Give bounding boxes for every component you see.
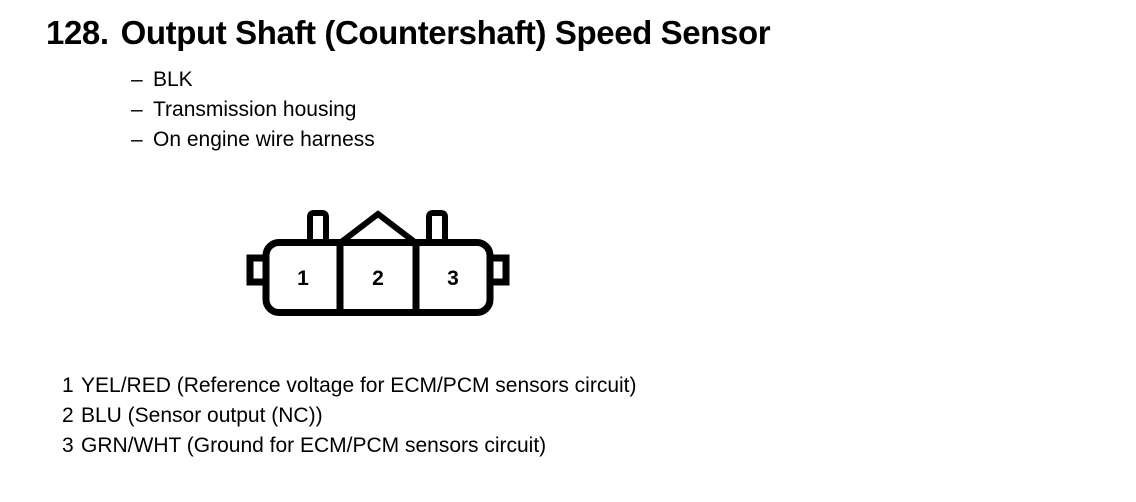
spec-list: – BLK – Transmission housing – On engine…: [131, 65, 375, 155]
page-title: 128.Output Shaft (Countershaft) Speed Se…: [46, 14, 770, 53]
list-item: 3 GRN/WHT (Ground for ECM/PCM sensors ci…: [62, 431, 637, 461]
legend-pin-description: GRN/WHT (Ground for ECM/PCM sensors circ…: [81, 431, 546, 461]
legend-pin-number: 1: [62, 371, 81, 401]
dash-bullet-icon: –: [131, 95, 153, 125]
list-item: – BLK: [131, 65, 375, 95]
legend-pin-description: YEL/RED (Reference voltage for ECM/PCM s…: [81, 371, 637, 401]
legend-pin-description: BLU (Sensor output (NC)): [81, 401, 323, 431]
latch-peak-icon: [340, 214, 416, 243]
connector-svg: 1 2 3: [236, 200, 520, 320]
terminal-number-2: 2: [372, 267, 384, 290]
spec-item-label: BLK: [153, 65, 193, 95]
page-title-text: Output Shaft (Countershaft) Speed Sensor: [121, 14, 771, 51]
spec-item-label: On engine wire harness: [153, 125, 375, 155]
pin-legend: 1 YEL/RED (Reference voltage for ECM/PCM…: [62, 371, 637, 461]
dash-bullet-icon: –: [131, 65, 153, 95]
terminal-number-1: 1: [297, 267, 309, 290]
list-item: – On engine wire harness: [131, 125, 375, 155]
spec-item-label: Transmission housing: [153, 95, 356, 125]
page-title-number: 128.: [46, 14, 109, 51]
connector-diagram: 1 2 3: [236, 200, 520, 320]
list-item: – Transmission housing: [131, 95, 375, 125]
right-post-icon: [429, 213, 445, 243]
legend-pin-number: 2: [62, 401, 81, 431]
terminal-number-3: 3: [447, 267, 459, 290]
list-item: 2 BLU (Sensor output (NC)): [62, 401, 637, 431]
left-post-icon: [310, 213, 326, 243]
list-item: 1 YEL/RED (Reference voltage for ECM/PCM…: [62, 371, 637, 401]
dash-bullet-icon: –: [131, 125, 153, 155]
legend-pin-number: 3: [62, 431, 81, 461]
